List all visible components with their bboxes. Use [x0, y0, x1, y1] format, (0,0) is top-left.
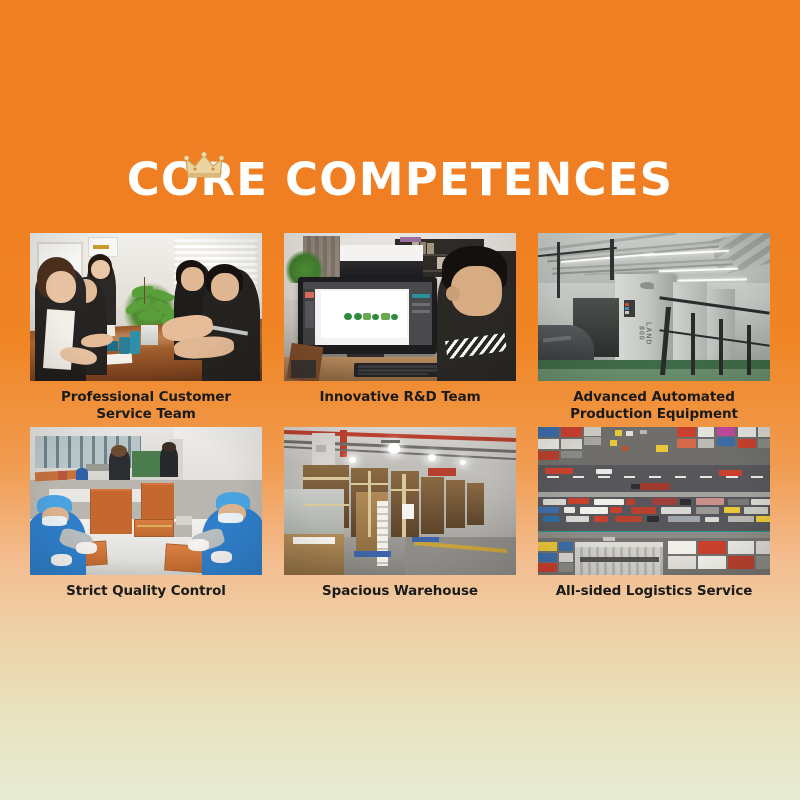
photo-innovative-rd-team — [284, 233, 516, 381]
photo-strict-quality-control — [30, 427, 262, 575]
competence-card-rd-team[interactable]: Innovative R&D Team — [284, 233, 516, 423]
competences-grid: Professional Customer Service Team — [30, 233, 770, 600]
caption-line-2: Production Equipment — [570, 406, 738, 422]
competence-card-production-equipment[interactable]: LAND 800 Advanced Automated P — [538, 233, 770, 423]
photo-professional-customer-service-team — [30, 233, 262, 381]
caption-warehouse: Spacious Warehouse — [284, 575, 516, 600]
photo-all-sided-logistics-service — [538, 427, 770, 575]
caption-line-1: Strict Quality Control — [66, 583, 226, 599]
caption-quality-control: Strict Quality Control — [30, 575, 262, 600]
caption-customer-service: Professional Customer Service Team — [30, 381, 262, 423]
photo-spacious-warehouse — [284, 427, 516, 575]
caption-line-1: Spacious Warehouse — [322, 583, 478, 599]
competence-card-customer-service[interactable]: Professional Customer Service Team — [30, 233, 262, 423]
caption-line-1: Innovative R&D Team — [319, 389, 480, 405]
competence-card-quality-control[interactable]: Strict Quality Control — [30, 427, 262, 600]
machine-label: LAND 800 — [642, 314, 651, 352]
page-title-block: CORE COMPETENCES — [0, 150, 800, 210]
core-competences-page: CORE COMPETENCES — [0, 0, 800, 800]
caption-line-1: All-sided Logistics Service — [556, 583, 753, 599]
caption-production-equipment: Advanced Automated Production Equipment — [538, 381, 770, 423]
caption-line-1: Professional Customer — [61, 389, 231, 405]
competence-card-warehouse[interactable]: Spacious Warehouse — [284, 427, 516, 600]
caption-line-2: Service Team — [96, 406, 195, 422]
photo-advanced-automated-production-equipment: LAND 800 — [538, 233, 770, 381]
caption-logistics: All-sided Logistics Service — [538, 575, 770, 600]
caption-rd-team: Innovative R&D Team — [284, 381, 516, 406]
page-title: CORE COMPETENCES — [0, 150, 800, 210]
crown-icon — [184, 151, 224, 181]
competence-card-logistics[interactable]: All-sided Logistics Service — [538, 427, 770, 600]
caption-line-1: Advanced Automated — [573, 389, 735, 405]
